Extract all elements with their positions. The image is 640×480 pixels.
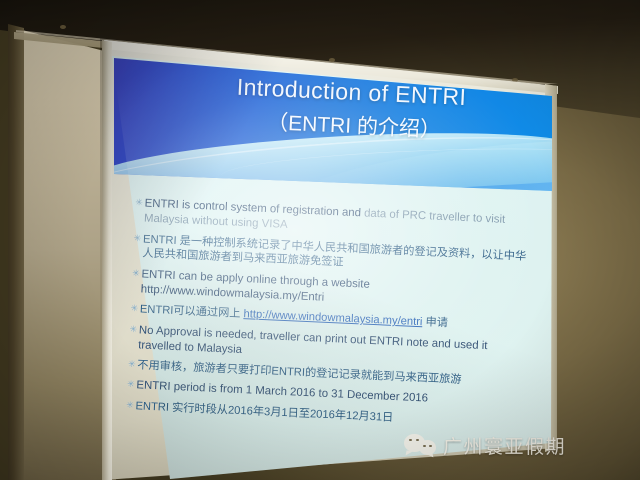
left-wall-panel — [8, 0, 116, 480]
bullet-marker-icon: ✳ — [126, 358, 138, 372]
slide-hyperlink[interactable]: http://www.windowmalaysia.my/entri — [243, 308, 422, 328]
slide-bullet-text-faded: data of PRC traveller to visit Malaysia … — [144, 207, 506, 231]
rail-screw — [60, 25, 66, 29]
watermark-text: 广州寰亚假期 — [443, 432, 566, 459]
wechat-icon — [404, 433, 436, 459]
rail-screw — [329, 58, 335, 62]
bullet-marker-icon: ✳ — [128, 322, 140, 336]
watermark: 广州寰亚假期 — [404, 432, 566, 459]
slide-bullet-list: ✳ENTRI is control system of registration… — [124, 196, 534, 437]
photo-scene: Introduction of ENTRI （ENTRI 的介绍） ✳ENTRI… — [0, 0, 640, 480]
bullet-marker-icon: ✳ — [133, 196, 145, 210]
bullet-marker-icon: ✳ — [132, 232, 144, 246]
bullet-marker-icon: ✳ — [129, 302, 141, 316]
bullet-marker-icon: ✳ — [130, 267, 142, 281]
rail-screw — [512, 78, 518, 82]
slide-title-cn: （ENTRI 的介绍） — [267, 106, 442, 144]
bullet-marker-icon: ✳ — [124, 399, 136, 413]
bullet-marker-icon: ✳ — [125, 378, 137, 392]
